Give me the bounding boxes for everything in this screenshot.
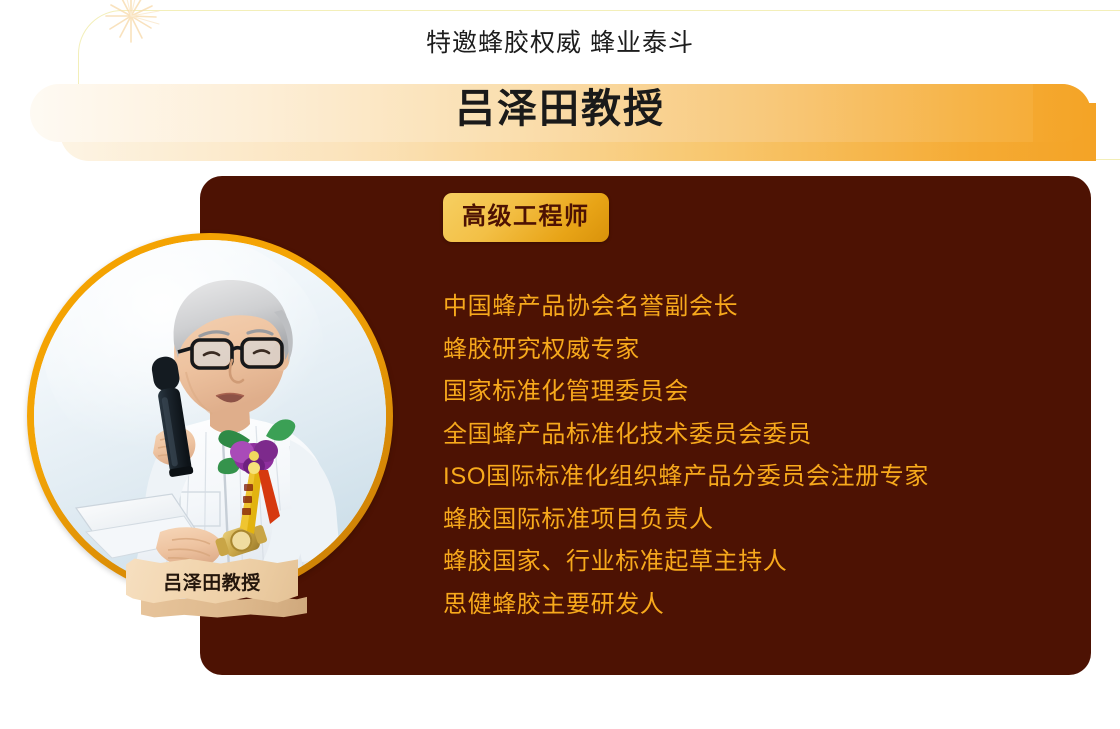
list-item: 全国蜂产品标准化技术委员会委员 xyxy=(443,414,1073,457)
name-tag: 吕泽田教授 xyxy=(126,558,298,604)
name-tag-label: 吕泽田教授 xyxy=(126,558,298,604)
list-item: 思健蜂胶主要研发人 xyxy=(443,584,1073,627)
portrait-ring xyxy=(27,233,393,599)
poster-canvas: 特邀蜂胶权威 蜂业泰斗 吕泽田教授 高级工程师 中国蜂产品协会名誉副会长 蜂胶研… xyxy=(0,0,1120,729)
status-badge: 高级工程师 xyxy=(443,193,609,242)
header-subtitle: 特邀蜂胶权威 蜂业泰斗 xyxy=(0,26,1120,60)
list-item: 中国蜂产品协会名誉副会长 xyxy=(443,286,1073,329)
page-title: 吕泽田教授 xyxy=(0,81,1120,137)
credential-list: 中国蜂产品协会名誉副会长 蜂胶研究权威专家 国家标准化管理委员会 全国蜂产品标准… xyxy=(443,286,1073,626)
list-item: 蜂胶研究权威专家 xyxy=(443,329,1073,372)
portrait-photo xyxy=(34,240,386,592)
list-item: ISO国际标准化组织蜂产品分委员会注册专家 xyxy=(443,456,1073,499)
list-item: 国家标准化管理委员会 xyxy=(443,371,1073,414)
list-item: 蜂胶国际标准项目负责人 xyxy=(443,499,1073,542)
list-item: 蜂胶国家、行业标准起草主持人 xyxy=(443,541,1073,584)
